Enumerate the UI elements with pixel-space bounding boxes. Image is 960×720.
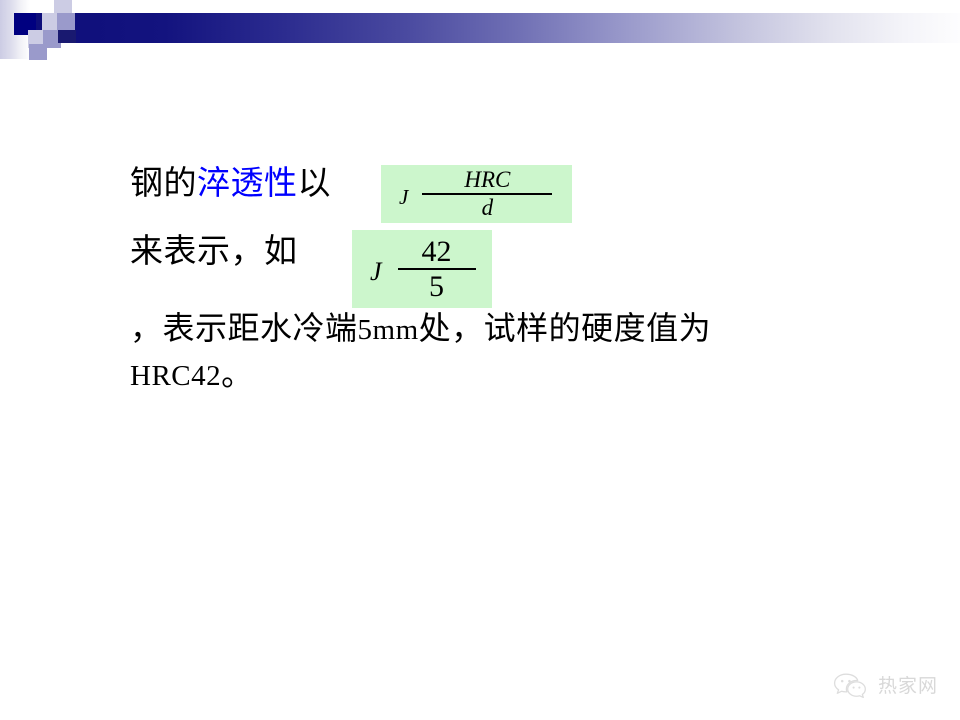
formula-box-42-over-5: J 42 5 bbox=[352, 230, 492, 308]
decor-square-light-top bbox=[54, 0, 72, 13]
line-2-text: 来表示，如 bbox=[130, 231, 298, 270]
formula-2-variable: J bbox=[370, 257, 382, 287]
formula-1-denominator: d bbox=[478, 196, 498, 220]
header-decoration bbox=[0, 0, 960, 72]
line-1-head: 钢的 bbox=[130, 163, 197, 202]
body-line-3: ，表示距水冷端5mm处，试样的硬度值为 bbox=[130, 312, 711, 345]
wechat-icon bbox=[833, 672, 871, 698]
slide-canvas: 钢的淬透性以 来表示，如 ，表示距水冷端5mm处，试样的硬度值为 HRC42。 … bbox=[0, 0, 960, 720]
body-line-4: HRC42。 bbox=[130, 358, 254, 391]
formula-1-variable: J bbox=[399, 185, 408, 210]
formula-2-numerator: 42 bbox=[418, 236, 456, 268]
line-1-tail: 以 bbox=[298, 163, 332, 202]
line-4-tail: 。 bbox=[221, 355, 254, 393]
watermark: 热家网 bbox=[833, 671, 938, 698]
decor-square-mid-c bbox=[29, 44, 47, 60]
line-4-hardness-value: HRC42 bbox=[130, 360, 221, 392]
line-3-head: ，表示距水冷端 bbox=[130, 309, 358, 347]
body-line-2: 来表示，如 bbox=[130, 234, 298, 269]
body-line-1: 钢的淬透性以 bbox=[130, 166, 331, 201]
line-3-measurement: 5mm bbox=[358, 314, 419, 346]
formula-1-numerator: HRC bbox=[460, 168, 514, 192]
decor-square-navy bbox=[58, 30, 76, 43]
header-gradient-bar bbox=[36, 13, 960, 43]
watermark-text: 热家网 bbox=[878, 671, 938, 698]
formula-1-fraction: HRC d bbox=[422, 168, 552, 220]
formula-box-hrc-over-d: J HRC d bbox=[381, 165, 572, 223]
line-1-highlight: 淬透性 bbox=[197, 163, 298, 202]
formula-2-fraction: 42 5 bbox=[398, 236, 476, 303]
formula-2-denominator: 5 bbox=[425, 271, 448, 303]
line-3-tail: 处，试样的硬度值为 bbox=[419, 309, 712, 347]
